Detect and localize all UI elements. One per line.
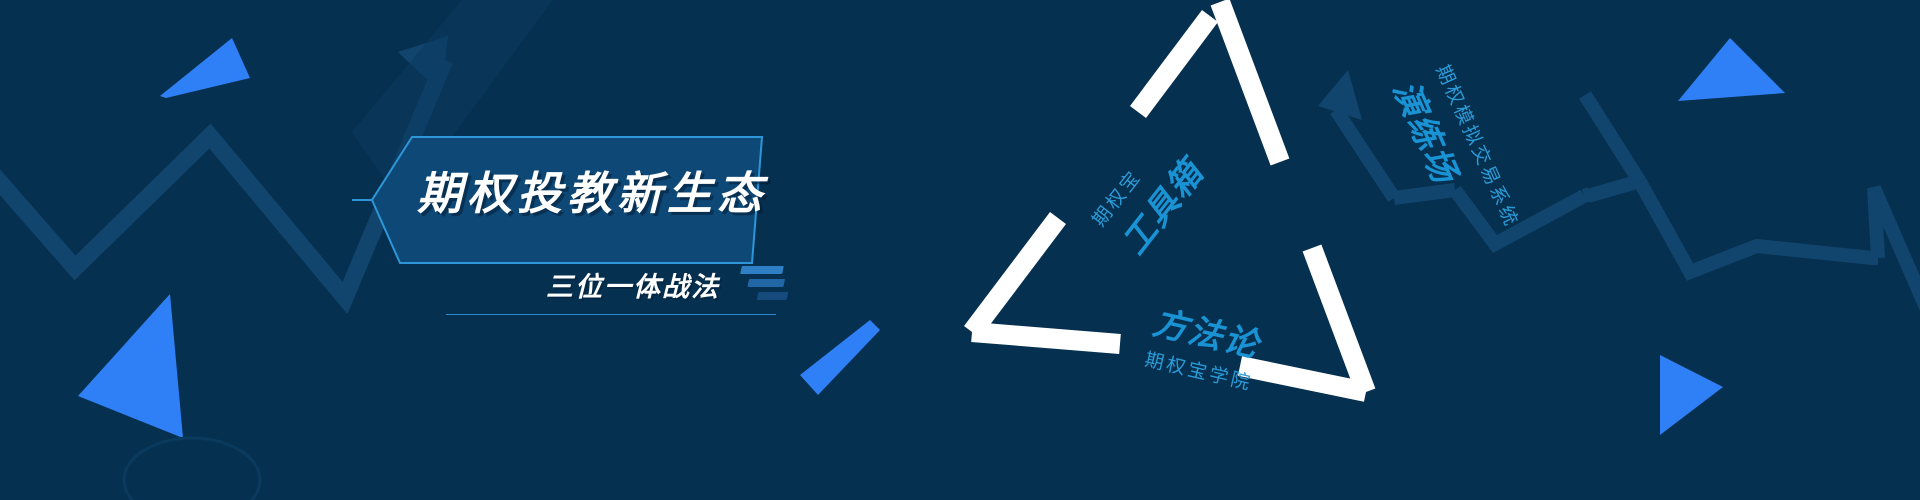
page-title: 期权投教新生态 <box>412 158 772 230</box>
subtitle-divider <box>446 314 776 315</box>
subtitle-text: 三位一体战法 <box>546 265 720 304</box>
three-bars-icon <box>734 266 784 302</box>
title-block: 期权投教新生态 <box>352 120 782 280</box>
banner-root: 期权投教新生态 三位一体战法 期权宝 工具箱 期权模拟交易系统 演练场 <box>0 0 1920 500</box>
triangle-diagram <box>880 0 1640 500</box>
subtitle-row: 三位一体战法 <box>440 258 780 310</box>
